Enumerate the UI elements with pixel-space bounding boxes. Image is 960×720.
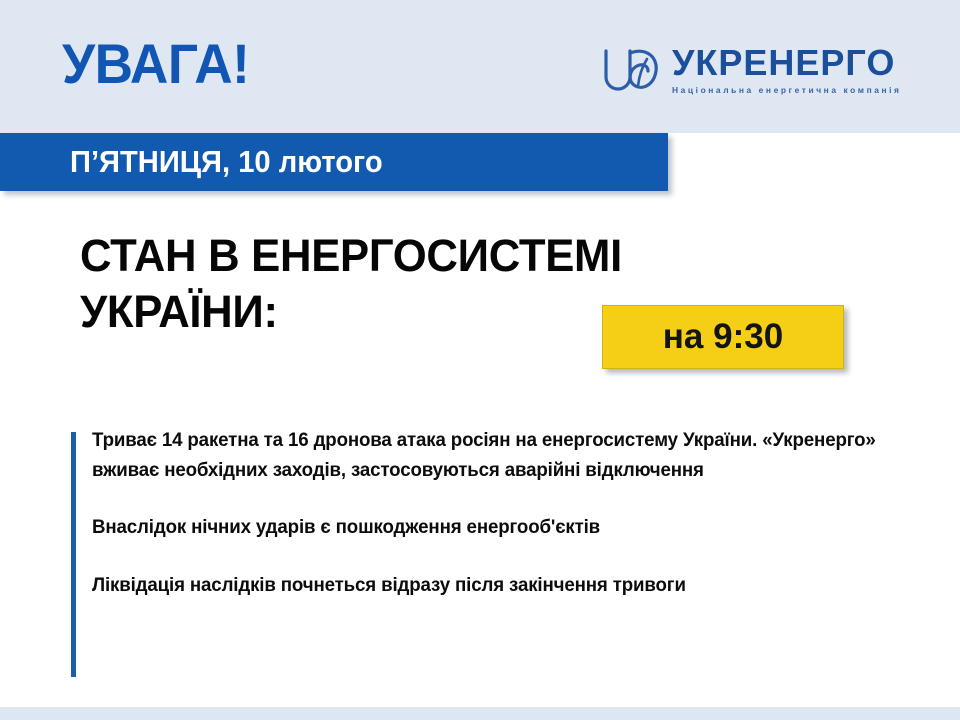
date-label: П’ЯТНИЦЯ, 10 лютого	[70, 144, 383, 180]
status-paragraph-list: Триває 14 ракетна та 16 дронова атака ро…	[92, 426, 952, 601]
attention-title: УВАГА!	[62, 36, 249, 92]
list-item: Триває 14 ракетна та 16 дронова атака ро…	[92, 426, 939, 485]
time-badge: на 9:30	[602, 305, 844, 369]
footer-band	[0, 707, 960, 720]
logo-tagline: Національна енергетична компанія	[672, 85, 902, 95]
logo-wordmark: УКРЕНЕРГО	[672, 44, 895, 82]
ukrenergo-leaf-monogram-icon	[598, 45, 662, 103]
list-item: Ліквідація наслідків почнеться відразу п…	[92, 571, 939, 601]
accent-bar	[71, 432, 76, 677]
time-badge-label: на 9:30	[663, 317, 783, 357]
list-item: Внаслідок нічних ударів є пошкодження ен…	[92, 513, 939, 543]
date-banner: П’ЯТНИЦЯ, 10 лютого	[0, 133, 668, 191]
ukrenergo-logo: УКРЕНЕРГО Національна енергетична компан…	[598, 44, 904, 103]
